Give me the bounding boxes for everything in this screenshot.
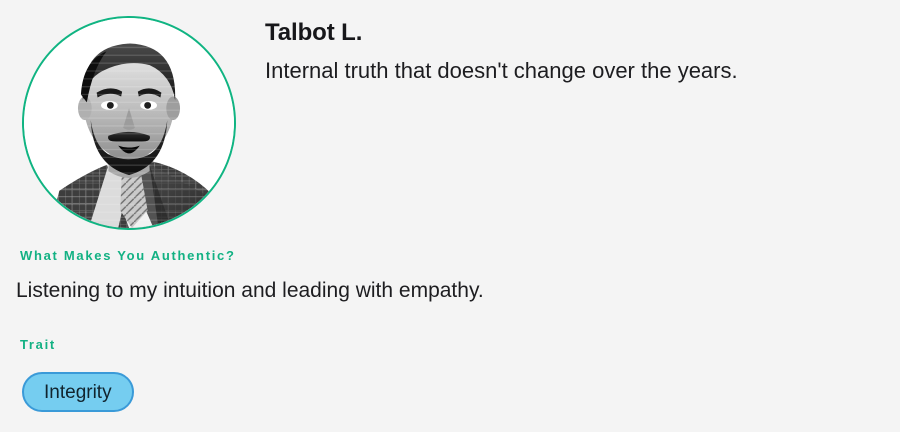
identity-block: Talbot L. Internal truth that doesn't ch… <box>265 18 875 86</box>
person-quote: Internal truth that doesn't change over … <box>265 56 875 86</box>
portrait-photo-icon <box>24 18 234 228</box>
section-label-authentic: What Makes You Authentic? <box>20 248 236 264</box>
section-label-trait: Trait <box>20 337 56 353</box>
person-name: Talbot L. <box>265 18 875 48</box>
trait-chip[interactable]: Integrity <box>22 372 134 412</box>
profile-header: Talbot L. Internal truth that doesn't ch… <box>0 0 900 238</box>
trait-chip-row: Integrity <box>22 372 134 412</box>
avatar <box>22 16 236 230</box>
section-body-authentic: Listening to my intuition and leading wi… <box>16 277 484 305</box>
profile-card: Talbot L. Internal truth that doesn't ch… <box>0 0 900 432</box>
